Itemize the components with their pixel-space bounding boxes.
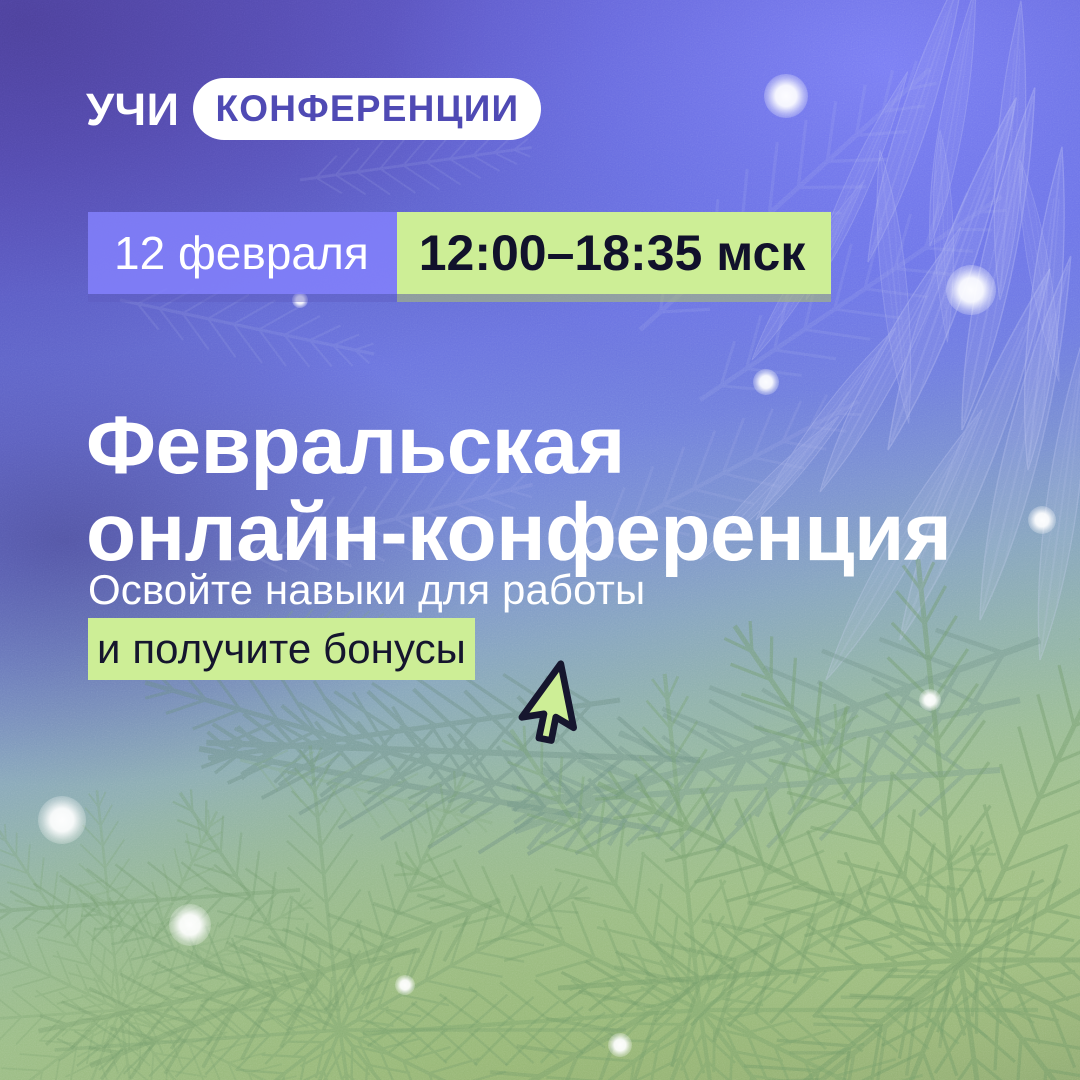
subtitle-line-highlight-wrap: и получите бонусы	[88, 621, 728, 676]
event-badge-row: 12 февраля 12:00–18:35 мск	[88, 212, 831, 294]
event-time-badge: 12:00–18:35 мск	[397, 212, 832, 294]
brand-wordmark: УЧИ	[86, 87, 179, 132]
promo-poster: УЧИ КОНФЕРЕНЦИИ 12 февраля 12:00–18:35 м…	[0, 0, 1080, 1080]
headline-line-1: Февральская	[86, 403, 1006, 490]
event-date-badge: 12 февраля	[88, 212, 397, 294]
brand-logo[interactable]: УЧИ КОНФЕРЕНЦИИ	[86, 78, 541, 140]
subtitle-block: Освойте навыки для работы и получите бон…	[88, 562, 728, 677]
subtitle-line-plain: Освойте навыки для работы	[88, 562, 728, 617]
page-title: Февральская онлайн-конференция	[86, 403, 1006, 577]
subtitle-line-highlight: и получите бонусы	[88, 618, 475, 680]
brand-pill-label: КОНФЕРЕНЦИИ	[193, 78, 541, 140]
poster-content: УЧИ КОНФЕРЕНЦИИ 12 февраля 12:00–18:35 м…	[0, 0, 1080, 1080]
